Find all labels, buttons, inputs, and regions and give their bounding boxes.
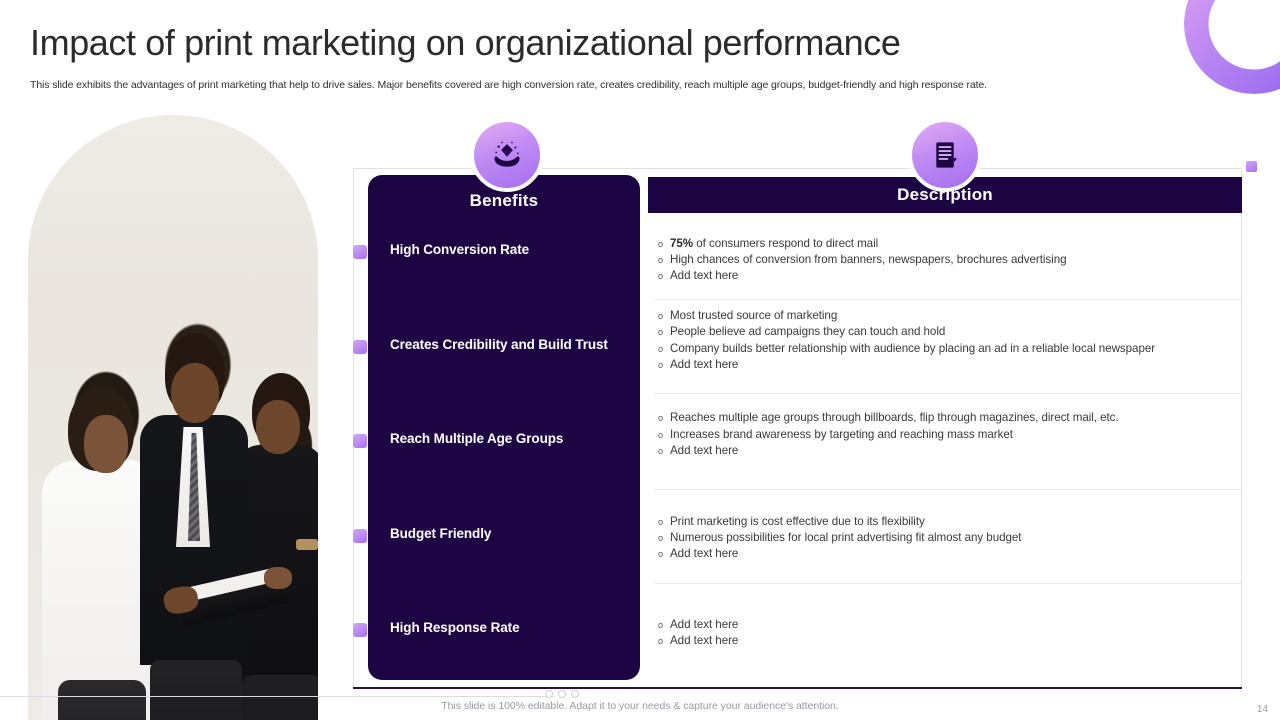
bullet-circle-icon: o [655, 357, 670, 373]
bullet-text: Increases brand awareness by targeting a… [670, 427, 1241, 443]
bullet-text: 75% of consumers respond to direct mail [670, 236, 1241, 252]
bullet-text: Add text here [670, 546, 1241, 562]
bullet-item: oMost trusted source of marketing [655, 308, 1241, 324]
team-photo [28, 115, 318, 720]
bullet-circle-icon: o [655, 324, 670, 340]
bullet-circle-icon: o [655, 236, 670, 252]
description-cell: oPrint marketing is cost effective due t… [655, 490, 1241, 584]
corner-square-marker [1246, 161, 1257, 172]
benefit-label: High Response Rate [390, 620, 640, 635]
bullet-text: Most trusted source of marketing [670, 308, 1241, 324]
benefit-label: Budget Friendly [390, 526, 640, 541]
bullet-item: oPeople believe ad campaigns they can to… [655, 324, 1241, 340]
bullet-circle-icon: o [655, 530, 670, 546]
bullet-circle-icon: o [655, 252, 670, 268]
bullet-item: oHigh chances of conversion from banners… [655, 252, 1241, 268]
benefit-label: Creates Credibility and Build Trust [390, 337, 640, 352]
bullet-item: oAdd text here [655, 443, 1241, 459]
bullet-text: Add text here [670, 268, 1241, 284]
row-marker-square [353, 340, 367, 354]
bullet-text: Company builds better relationship with … [670, 341, 1241, 357]
footer-note: This slide is 100% editable. Adapt it to… [0, 700, 1280, 712]
bullet-item: oAdd text here [655, 357, 1241, 373]
description-cell: oAdd text hereoAdd text here [655, 584, 1241, 680]
bullet-text: Add text here [670, 357, 1241, 373]
bullet-item: oAdd text here [655, 546, 1241, 562]
description-cell: oMost trusted source of marketingoPeople… [655, 300, 1241, 394]
bullet-circle-icon: o [655, 341, 670, 357]
page-title: Impact of print marketing on organizatio… [30, 22, 900, 64]
bullet-circle-icon: o [655, 546, 670, 562]
bullet-text: Numerous possibilities for local print a… [670, 530, 1241, 546]
bullet-circle-icon: o [655, 410, 670, 426]
bullet-item: o75% of consumers respond to direct mail [655, 236, 1241, 252]
benefits-panel: Benefits High Conversion RateCreates Cre… [368, 175, 640, 680]
bullet-text: Add text here [670, 633, 1241, 649]
page-subtitle: This slide exhibits the advantages of pr… [30, 79, 1190, 91]
table-bottom-rule [353, 687, 1242, 689]
bullet-circle-icon: o [655, 268, 670, 284]
bullet-circle-icon: o [655, 633, 670, 649]
bullet-text: Add text here [670, 617, 1241, 633]
description-cell: o75% of consumers respond to direct mail… [655, 218, 1241, 300]
bullet-circle-icon: o [655, 617, 670, 633]
description-cell: oReaches multiple age groups through bil… [655, 394, 1241, 490]
bullet-text: Reaches multiple age groups through bill… [670, 410, 1241, 426]
document-list-icon [908, 118, 982, 192]
page-number: 14 [1257, 704, 1268, 715]
footer-divider [0, 696, 555, 697]
bullet-circle-icon: o [655, 443, 670, 459]
bullet-item: oIncreases brand awareness by targeting … [655, 427, 1241, 443]
bullet-item: oPrint marketing is cost effective due t… [655, 514, 1241, 530]
corner-ring-decoration [1184, 0, 1280, 94]
bullet-item: oReaches multiple age groups through bil… [655, 410, 1241, 426]
bullet-text: People believe ad campaigns they can tou… [670, 324, 1241, 340]
row-marker-square [353, 245, 367, 259]
diamond-in-hands-icon [470, 118, 544, 192]
bullet-item: oAdd text here [655, 268, 1241, 284]
team-photo-image [28, 115, 318, 720]
bullet-text: Add text here [670, 443, 1241, 459]
row-marker-square [353, 529, 367, 543]
bullet-circle-icon: o [655, 427, 670, 443]
footer-dots [545, 690, 579, 698]
bullet-item: oAdd text here [655, 617, 1241, 633]
bullet-text: High chances of conversion from banners,… [670, 252, 1241, 268]
benefit-label: High Conversion Rate [390, 242, 640, 257]
benefits-column-header: Benefits [368, 191, 640, 211]
benefit-label: Reach Multiple Age Groups [390, 431, 640, 446]
row-marker-square [353, 434, 367, 448]
bullet-item: oCompany builds better relationship with… [655, 341, 1241, 357]
bullet-item: oAdd text here [655, 633, 1241, 649]
bullet-item: oNumerous possibilities for local print … [655, 530, 1241, 546]
row-marker-square [353, 623, 367, 637]
bullet-text: Print marketing is cost effective due to… [670, 514, 1241, 530]
bullet-circle-icon: o [655, 308, 670, 324]
bullet-circle-icon: o [655, 514, 670, 530]
